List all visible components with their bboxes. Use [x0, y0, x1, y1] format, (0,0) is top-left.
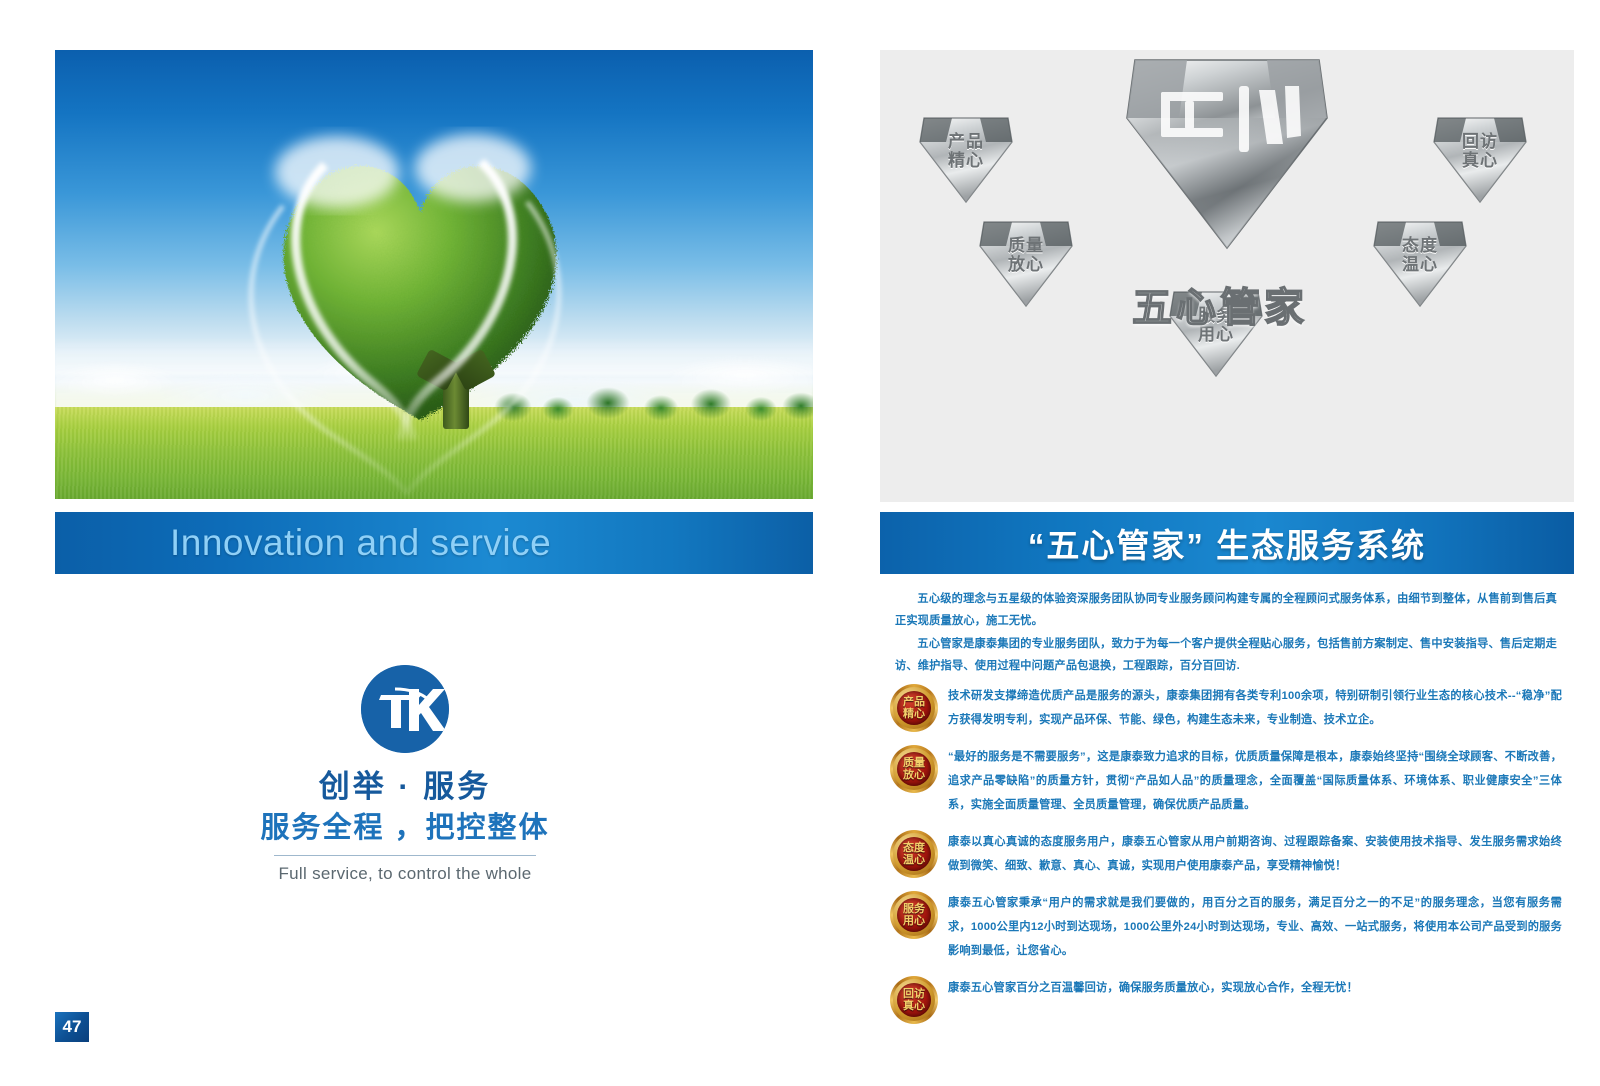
hero-image-heart-tree [55, 50, 813, 499]
banner-five-heart-steward-system: “五心管家” 生态服务系统 [880, 512, 1574, 574]
right-page: 产品 精心 质量 放心 [818, 0, 1600, 1086]
list-item: 产品 精心 技术研发支撑缔造优质产品是服务的源头，康泰集团拥有各类专利100余项… [890, 682, 1562, 732]
seal-badge-icon-product: 产品 精心 [890, 684, 938, 732]
bullet-text: 康泰五心管家秉承“用户的需求就是我们要做的，用百分之百的服务，满足百分之一的不足… [948, 889, 1562, 963]
banner-innovation-and-service: Innovation and service [55, 512, 813, 574]
seal-badge-icon-revisit: 回访 真心 [890, 976, 938, 1024]
seal-badge-icon-quality: 质量 放心 [890, 745, 938, 793]
brand-slogan-primary: 创举 · 服务 [230, 767, 580, 807]
banner-left-text: Innovation and service [170, 522, 551, 564]
bullet-text: 技术研发支撑缔造优质产品是服务的源头，康泰集团拥有各类专利100余项，特别研制引… [948, 682, 1562, 732]
page-number-left: 47 [55, 1012, 89, 1042]
list-item: 服务 用心 康泰五心管家秉承“用户的需求就是我们要做的，用百分之百的服务，满足百… [890, 889, 1562, 963]
gem-diagram-center-title: 五心管家 [1055, 275, 1385, 333]
intro-paragraph-1: 五心级的理念与五星级的体验资深服务团队协同专业服务顾问构建专属的全程顾问式服务体… [895, 588, 1557, 632]
intro-paragraphs: 五心级的理念与五星级的体验资深服务团队协同专业服务顾问构建专属的全程顾问式服务体… [895, 588, 1557, 678]
gem-revisit: 回访 真心 [1432, 106, 1528, 206]
gem-attitude: 态度 温心 [1372, 210, 1468, 310]
seal-badge-icon-service: 服务 用心 [890, 891, 938, 939]
list-item: 态度 温心 康泰以真心真诚的态度服务用户，康泰五心管家从用户前期咨询、过程跟踪备… [890, 828, 1562, 878]
brand-slogan-english: Full service, to control the whole [230, 864, 580, 884]
tree-trunk [443, 365, 469, 429]
bullet-text: 康泰五心管家百分之百温馨回访，确保服务质量放心，实现放心合作，全程无忧！ [948, 974, 1358, 1000]
tk-logo-icon [361, 665, 449, 753]
seal-badge-icon-attitude: 态度 温心 [890, 830, 938, 878]
gem-quality-label: 质量 放心 [978, 236, 1074, 274]
tree-crown [250, 120, 590, 440]
left-page: Innovation and service 创举 · 服务 服务全程 ，把控整… [0, 0, 818, 1086]
gem-product: 产品 精心 [918, 106, 1014, 206]
gem-diagram-panel: 产品 精心 质量 放心 [880, 50, 1574, 502]
list-item: 回访 真心 康泰五心管家百分之百温馨回访，确保服务质量放心，实现放心合作，全程无… [890, 974, 1562, 1024]
brand-block: 创举 · 服务 服务全程 ，把控整体 Full service, to cont… [230, 665, 580, 884]
brand-slogan-secondary: 服务全程 ，把控整体 [230, 807, 580, 849]
bullet-text: “最好的服务是不需要服务”，这是康泰致力追求的目标，优质质量保障是根本，康泰始终… [948, 743, 1562, 817]
gem-attitude-label: 态度 温心 [1372, 236, 1468, 274]
gem-revisit-label: 回访 真心 [1432, 132, 1528, 170]
banner-right-text: “五心管家” 生态服务系统 [880, 519, 1574, 567]
intro-paragraph-2: 五心管家是康泰集团的专业服务团队，致力于为每一个客户提供全程贴心服务，包括售前方… [895, 633, 1557, 677]
bullet-text: 康泰以真心真诚的态度服务用户，康泰五心管家从用户前期咨询、过程跟踪备案、安装使用… [948, 828, 1562, 878]
brochure-spread: Innovation and service 创举 · 服务 服务全程 ，把控整… [0, 0, 1600, 1086]
list-item: 质量 放心 “最好的服务是不需要服务”，这是康泰致力追求的目标，优质质量保障是根… [890, 743, 1562, 817]
bullet-list: 产品 精心 技术研发支撑缔造优质产品是服务的源头，康泰集团拥有各类专利100余项… [890, 682, 1562, 1035]
gem-product-label: 产品 精心 [918, 132, 1014, 170]
brand-divider [274, 855, 536, 856]
